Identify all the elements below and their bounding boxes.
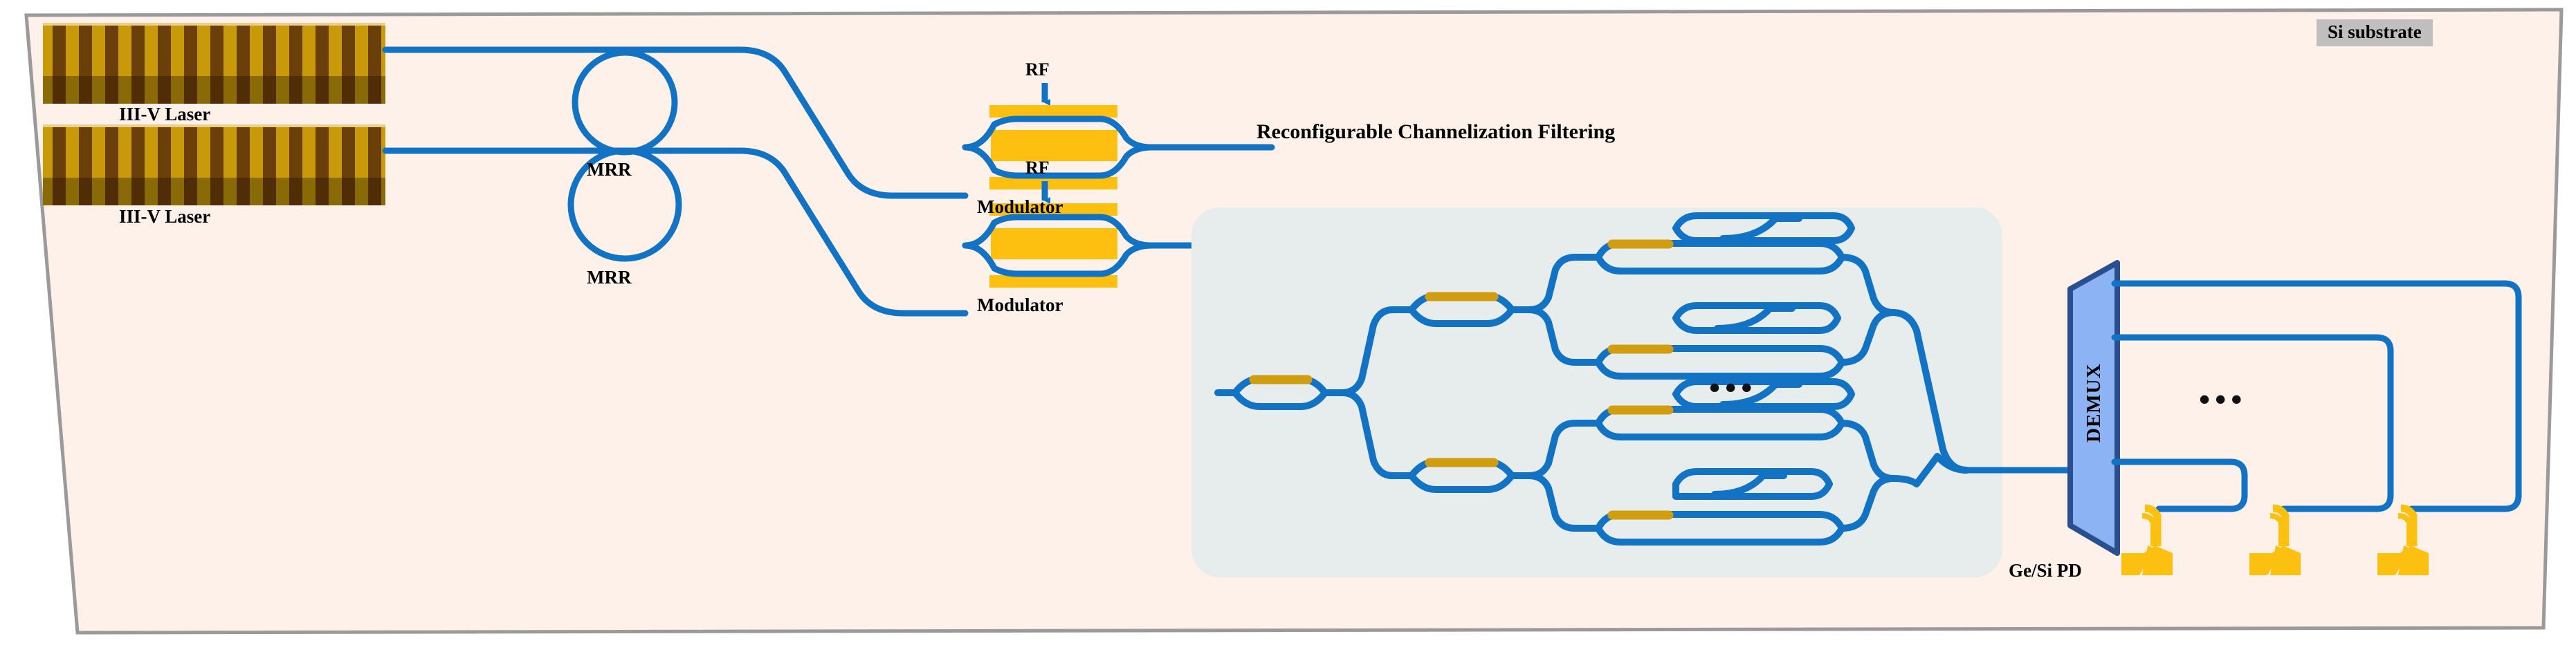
mrr-bottom-label: MRR: [587, 268, 631, 287]
filter-ellipsis: •••: [1709, 372, 1757, 404]
substrate-tag: Si substrate: [2317, 19, 2433, 46]
rf-top-label: RF: [1025, 61, 1050, 79]
rf-bottom-label: RF: [1025, 159, 1050, 177]
modulator-top-electrode-upper: [989, 105, 1117, 118]
demux-label: DEMUX: [2084, 363, 2104, 443]
figure-canvas: Si substrate III-V Laser III-V Laser MRR…: [0, 0, 2576, 652]
photodetector-label: Ge/Si PD: [2009, 561, 2082, 580]
modulator-bottom-electrode-lower: [989, 275, 1117, 288]
modulator-bottom-electrode-center: [991, 228, 1117, 259]
filter-bank-panel: [1191, 207, 2002, 577]
laser-bottom-label: III-V Laser: [119, 207, 210, 226]
modulator-bottom-label: Modulator: [977, 296, 1063, 315]
laser-top: [43, 23, 385, 104]
laser-bottom: [43, 124, 385, 205]
mrr-top-label: MRR: [587, 160, 631, 179]
modulator-top-electrode-center: [991, 130, 1117, 161]
modulator-top-electrode-lower: [989, 177, 1117, 189]
demux-ellipsis: •••: [2199, 384, 2247, 416]
modulator-top-label: Modulator: [977, 198, 1063, 216]
laser-top-label: III-V Laser: [119, 105, 210, 124]
filter-bank-title: Reconfigurable Channelization Filtering: [1257, 122, 1615, 142]
